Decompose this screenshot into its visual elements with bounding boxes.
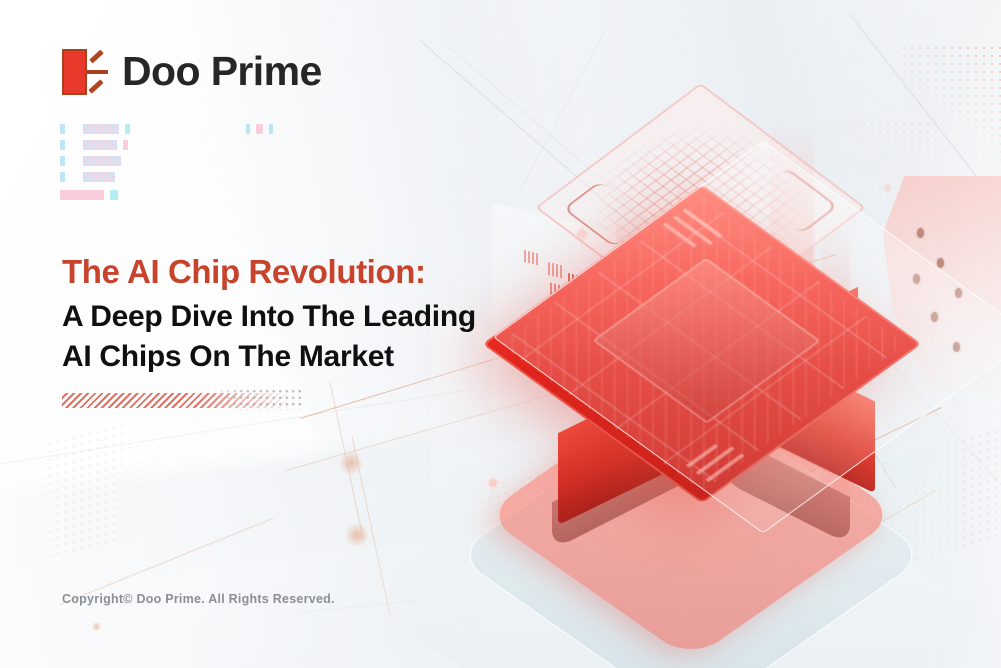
headline-block: The AI Chip Revolution: A Deep Dive Into… [62, 252, 582, 377]
accent-dot-grid [212, 388, 304, 410]
wire-vertical-2 [352, 436, 391, 617]
wire-vertical-1 [330, 382, 364, 539]
headline-dark-line-2: AI Chips On The Market [62, 337, 582, 377]
wire-node-4 [92, 622, 101, 631]
copyright-text: Copyright© Doo Prime. All Rights Reserve… [62, 592, 335, 606]
banner-root: Doo Prime T [0, 0, 1001, 668]
abstract-data-bars [60, 124, 290, 206]
brand-logo[interactable]: Doo Prime [62, 48, 322, 95]
doo-prime-logo-mark [62, 49, 108, 95]
headline-accent-line: The AI Chip Revolution: [62, 252, 582, 293]
brand-name: Doo Prime [122, 48, 322, 95]
wire-node-2 [346, 524, 368, 546]
wire-node-1 [340, 452, 362, 474]
headline-dark-line-1: A Deep Dive Into The Leading [62, 297, 582, 337]
dot-grid-left [0, 405, 190, 575]
